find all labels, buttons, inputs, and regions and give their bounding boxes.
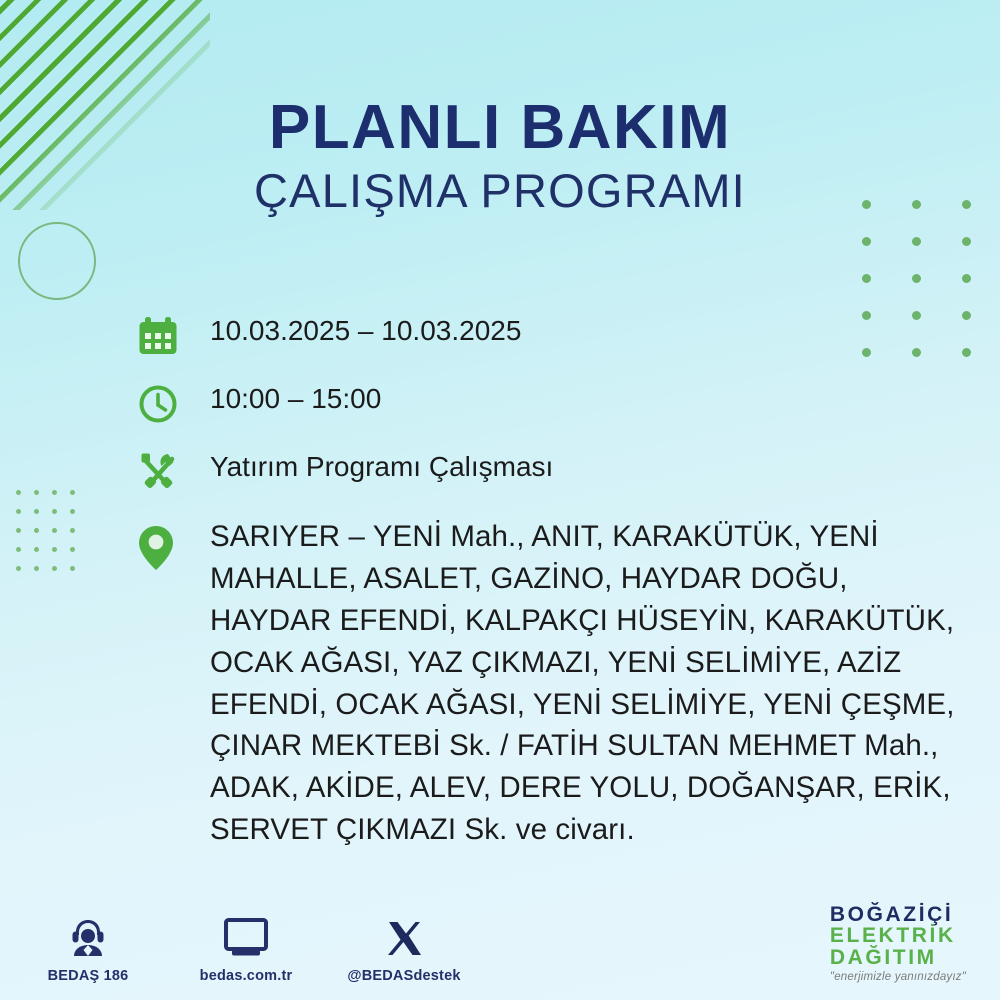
clock-icon: [136, 380, 210, 426]
tools-wrench-screwdriver-icon: [136, 448, 210, 494]
info-row-address: SARIYER – YENİ Mah., ANIT, KARAKÜTÜK, YE…: [136, 516, 966, 851]
date-range-value: 10.03.2025 – 10.03.2025: [210, 312, 521, 350]
info-row-date: 10.03.2025 – 10.03.2025: [136, 312, 966, 358]
location-pin-icon: [136, 516, 210, 572]
info-list: 10.03.2025 – 10.03.2025 10:00 – 15:00: [136, 312, 966, 851]
circle-outline-decoration: [18, 222, 96, 300]
x-twitter-icon: [382, 909, 426, 961]
contact-item-phone[interactable]: BEDAŞ 186: [34, 909, 142, 984]
bedas-logo: BOĞAZİÇİ ELEKTRİK DAĞITIM "enerjimizle y…: [830, 904, 966, 984]
logo-line-dagitim: DAĞITIM: [830, 947, 966, 968]
contact-label: BEDAŞ 186: [48, 968, 129, 984]
logo-line-elektrik: ELEKTRİK: [830, 925, 966, 946]
footer: BEDAŞ 186 bedas.com.tr @BEDASdestek BOĞA…: [0, 904, 1000, 984]
logo-tagline: "enerjimizle yanınızdayız": [830, 972, 966, 984]
contact-item-website[interactable]: bedas.com.tr: [192, 909, 300, 984]
contact-label: bedas.com.tr: [200, 968, 293, 984]
contact-list: BEDAŞ 186 bedas.com.tr @BEDASdestek: [34, 909, 458, 984]
contact-label: @BEDASdestek: [347, 968, 460, 984]
info-row-work-type: Yatırım Programı Çalışması: [136, 448, 966, 494]
dot-grid-decoration-left: [16, 490, 88, 585]
info-row-time: 10:00 – 15:00: [136, 380, 966, 426]
logo-line-bogazici: BOĞAZİÇİ: [830, 904, 966, 925]
monitor-icon: [221, 909, 271, 961]
contact-item-x[interactable]: @BEDASdestek: [350, 909, 458, 984]
address-value: SARIYER – YENİ Mah., ANIT, KARAKÜTÜK, YE…: [210, 516, 966, 851]
call-center-agent-icon: [65, 909, 111, 961]
title-main-line: PLANLI BAKIM: [0, 96, 1000, 159]
work-type-value: Yatırım Programı Çalışması: [210, 448, 553, 486]
time-range-value: 10:00 – 15:00: [210, 380, 381, 418]
calendar-icon: [136, 312, 210, 358]
page-title: PLANLI BAKIM ÇALIŞMA PROGRAMI: [0, 96, 1000, 217]
title-sub-line: ÇALIŞMA PROGRAMI: [0, 165, 1000, 217]
